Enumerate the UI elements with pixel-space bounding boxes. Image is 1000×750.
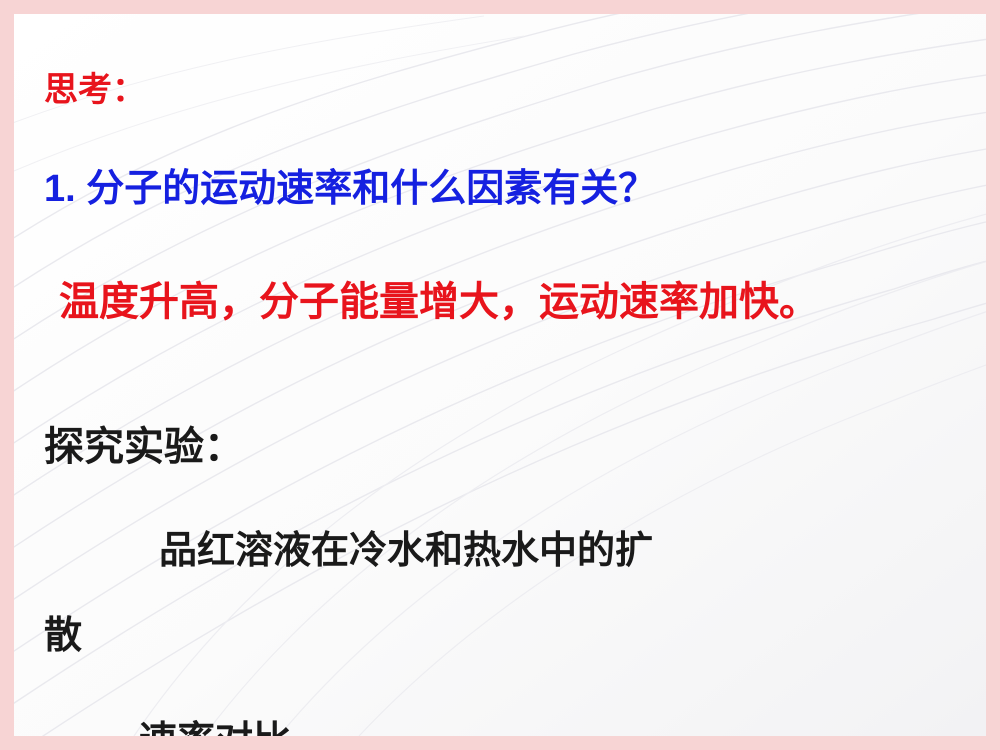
question-line-1: 1. 分子的运动速率和什么因素有关？ (44, 157, 656, 212)
experiment-detail-line-3: 速率对比. (139, 709, 302, 736)
slide-canvas: 思考： 1. 分子的运动速率和什么因素有关？ 温度升高，分子能量增大，运动速率加… (14, 14, 986, 736)
slide-text-content: 思考： 1. 分子的运动速率和什么因素有关？ 温度升高，分子能量增大，运动速率加… (14, 14, 986, 736)
think-label: 思考： (44, 62, 146, 111)
experiment-detail-line-2: 散 (44, 604, 82, 659)
experiment-detail-line-1: 品红溶液在冷水和热水中的扩 (159, 519, 653, 574)
answer-line-1: 温度升高，分子能量增大，运动速率加快。 (59, 269, 819, 327)
experiment-label: 探究实验： (44, 414, 244, 472)
slide: 思考： 1. 分子的运动速率和什么因素有关？ 温度升高，分子能量增大，运动速率加… (0, 0, 1000, 750)
